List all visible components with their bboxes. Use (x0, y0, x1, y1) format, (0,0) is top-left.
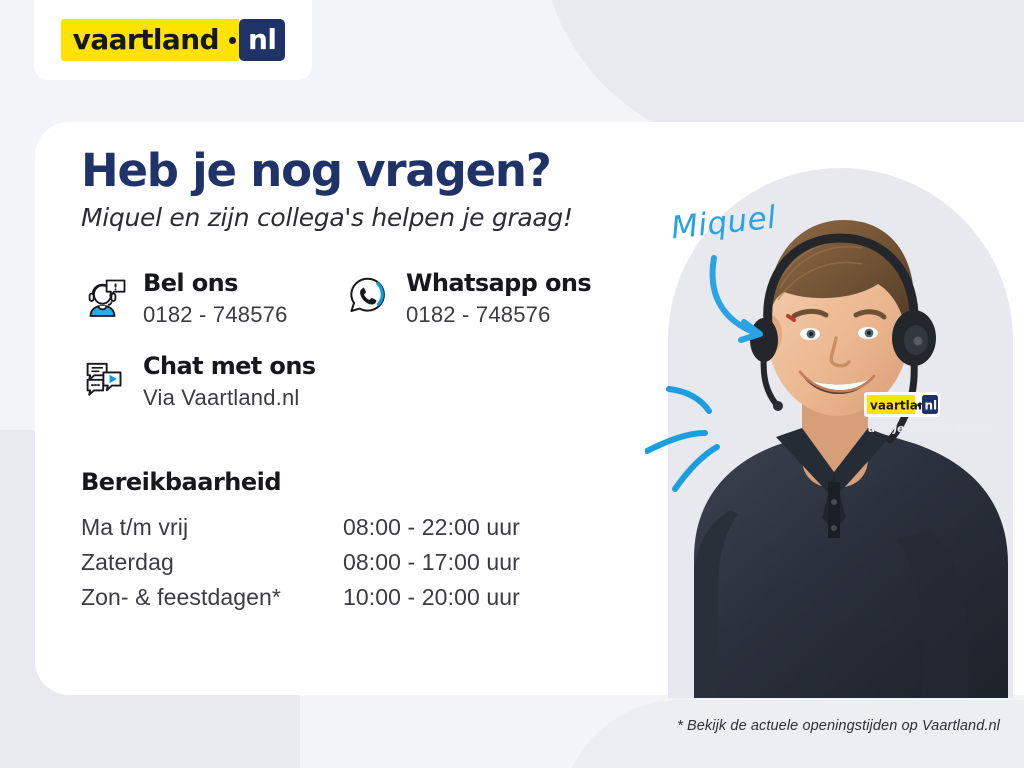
accent-dashes-icon (645, 365, 765, 495)
brand-logo-plate[interactable]: vaartland nl (34, 0, 312, 80)
availability-day: Zaterdag (81, 545, 343, 580)
curved-arrow-icon (700, 250, 810, 360)
contact-call-title: Bel ons (143, 270, 288, 298)
availability-table: Ma t/m vrij 08:00 - 22:00 uur Zaterdag 0… (81, 510, 520, 615)
table-row: Zon- & feestdagen* 10:00 - 20:00 uur (81, 580, 520, 615)
contact-whatsapp-value[interactable]: 0182 - 748576 (406, 302, 591, 328)
content-card-inner: Heb je nog vragen? Miquel en zijn colleg… (81, 147, 701, 615)
contact-whatsapp[interactable]: Whatsapp ons 0182 - 748576 (344, 269, 591, 328)
contact-whatsapp-title: Whatsapp ons (406, 270, 591, 298)
contact-chat[interactable]: Chat met ons Via Vaartland.nl (81, 352, 316, 411)
logo-wordmark: vaartland (61, 19, 229, 61)
contact-call-value[interactable]: 0182 - 748576 (143, 302, 288, 328)
footnote-text: * Bekijk de actuele openingstijden op Va… (677, 718, 1000, 734)
contact-chat-value[interactable]: Via Vaartland.nl (143, 385, 316, 411)
contact-chat-text: Chat met ons Via Vaartland.nl (143, 352, 316, 411)
availability-time: 08:00 - 17:00 uur (343, 545, 520, 580)
table-row: Zaterdag 08:00 - 17:00 uur (81, 545, 520, 580)
table-row: Ma t/m vrij 08:00 - 22:00 uur (81, 510, 520, 545)
availability-section: Bereikbaarheid Ma t/m vrij 08:00 - 22:00… (81, 468, 701, 615)
vaartland-logo[interactable]: vaartland nl (61, 19, 286, 61)
whatsapp-icon (344, 272, 390, 318)
contact-call-text: Bel ons 0182 - 748576 (143, 269, 288, 328)
contact-chat-title: Chat met ons (143, 353, 316, 381)
logo-separator-dot (229, 19, 239, 61)
availability-day: Ma t/m vrij (81, 510, 343, 545)
contact-options: Bel ons 0182 - 748576 (81, 269, 701, 411)
contact-row-secondary: Chat met ons Via Vaartland.nl (81, 352, 701, 411)
availability-time: 10:00 - 20:00 uur (343, 580, 520, 615)
page-subtitle: Miquel en zijn collega's helpen je graag… (81, 203, 701, 232)
availability-day: Zon- & feestdagen* (81, 580, 343, 615)
chat-bubbles-icon (81, 355, 127, 401)
contact-row-primary: Bel ons 0182 - 748576 (81, 269, 701, 328)
contact-whatsapp-text: Whatsapp ons 0182 - 748576 (406, 269, 591, 328)
page-title: Heb je nog vragen? (81, 147, 701, 194)
contact-call[interactable]: Bel ons 0182 - 748576 (81, 269, 344, 328)
svg-text:nl: nl (925, 399, 938, 413)
availability-title: Bereikbaarheid (81, 468, 701, 496)
logo-tld-badge: nl (239, 19, 285, 61)
logo-wordmark-text: vaartland (73, 26, 219, 54)
logo-tld-text: nl (248, 26, 276, 54)
headset-person-icon (81, 272, 127, 318)
svg-text:doe jezelf een plezier: doe jezelf een plezier (868, 423, 996, 435)
promo-banner: vaartland nl Heb je nog vragen? Miquel e… (0, 0, 1024, 768)
background-shape-bottom-right (560, 700, 1024, 768)
availability-time: 08:00 - 22:00 uur (343, 510, 520, 545)
